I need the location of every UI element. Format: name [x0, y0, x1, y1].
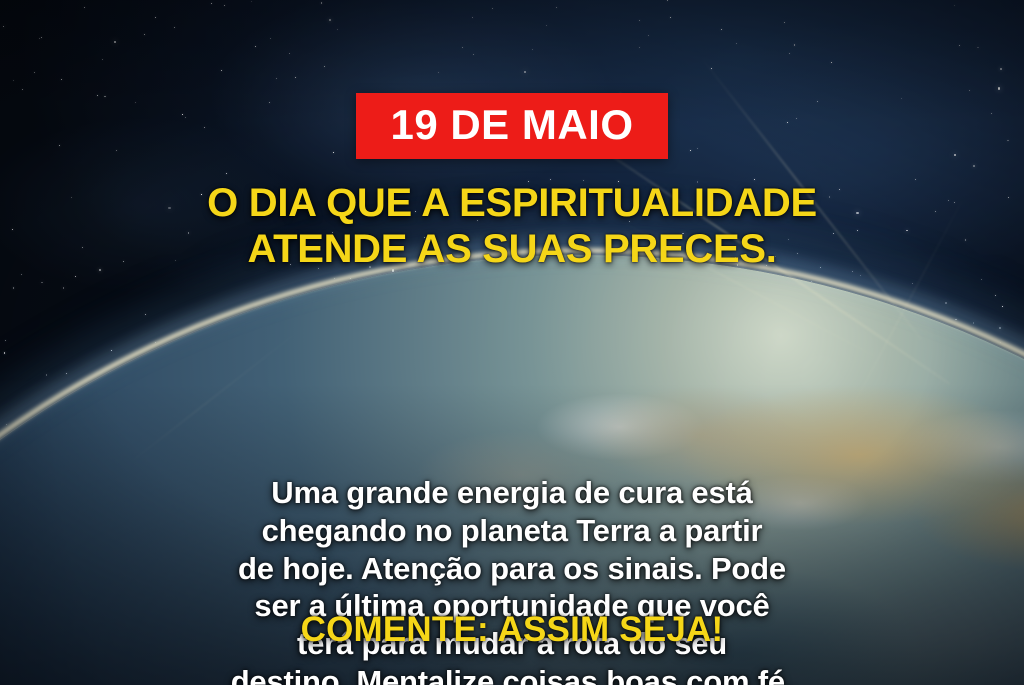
date-banner: 19 DE MAIO: [356, 93, 667, 159]
poster-canvas: 19 DE MAIO O DIA QUE A ESPIRITUALIDADE A…: [0, 0, 1024, 685]
poster-content: 19 DE MAIO O DIA QUE A ESPIRITUALIDADE A…: [0, 0, 1024, 685]
call-to-action: COMENTE: ASSIM SEJA!: [301, 612, 724, 647]
headline: O DIA QUE A ESPIRITUALIDADE ATENDE AS SU…: [207, 181, 817, 272]
body-paragraph: Uma grande energia de cura está chegando…: [72, 474, 952, 685]
